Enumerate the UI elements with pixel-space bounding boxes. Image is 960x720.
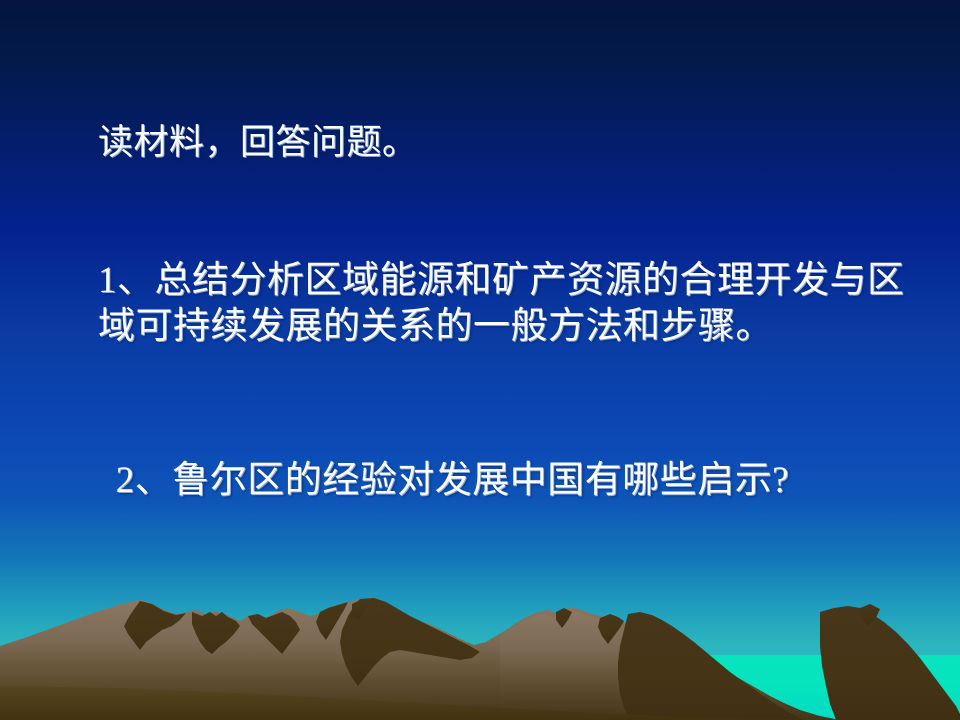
slide-text-content: 读材料，回答问题。 1、总结分析区域能源和矿产资源的合理开发与区域可持续发展的关… <box>0 0 960 720</box>
question-2-text: 2、鲁尔区的经验对发展中国有哪些启示? <box>106 458 789 504</box>
presentation-slide: 读材料，回答问题。 1、总结分析区域能源和矿产资源的合理开发与区域可持续发展的关… <box>0 0 960 720</box>
lead-text: 读材料，回答问题。 <box>98 120 418 166</box>
question-1-text: 1、总结分析区域能源和矿产资源的合理开发与区域可持续发展的关系的一般方法和步骤。 <box>98 258 938 350</box>
